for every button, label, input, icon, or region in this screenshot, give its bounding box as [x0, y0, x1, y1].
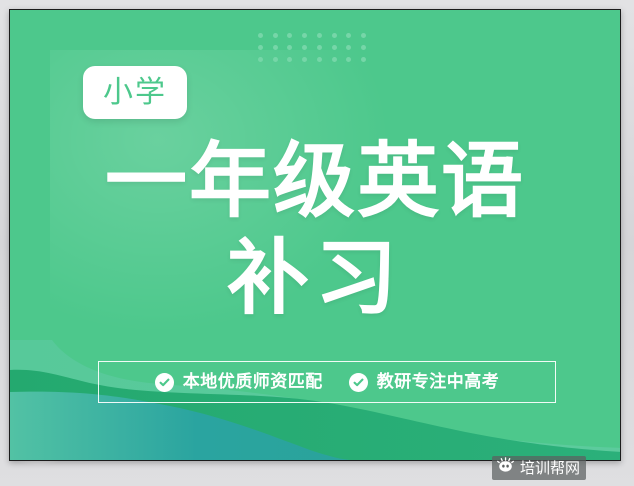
- grade-level-badge-label: 小学: [103, 78, 167, 108]
- sun-face-logo-icon: [496, 457, 515, 479]
- check-circle-icon: [349, 373, 368, 392]
- feature-item-exam-focus: 教研专注中高考: [349, 373, 500, 392]
- poster-card: 小学 一年级英语 补习 本地优质师资匹配 教研专注: [9, 9, 621, 461]
- dot-grid-icon: [253, 29, 371, 66]
- poster-title-line2: 补习: [10, 238, 620, 320]
- check-circle-icon: [155, 373, 174, 392]
- feature-item-label: 本地优质师资匹配: [183, 374, 323, 391]
- grade-level-badge: 小学: [83, 66, 187, 119]
- feature-strip: 本地优质师资匹配 教研专注中高考: [98, 361, 556, 403]
- watermark: 培训帮网: [492, 456, 586, 480]
- watermark-text: 培训帮网: [520, 461, 580, 476]
- feature-item-label: 教研专注中高考: [377, 374, 500, 391]
- feature-item-local-teachers: 本地优质师资匹配: [155, 373, 323, 392]
- poster-title-line1: 一年级英语: [10, 141, 620, 223]
